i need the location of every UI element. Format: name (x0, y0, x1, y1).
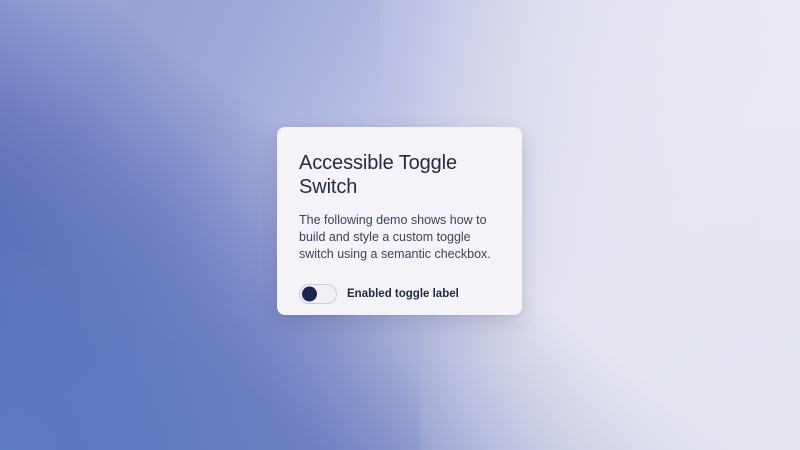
toggle-switch-enabled[interactable] (299, 284, 337, 304)
toggle-list: Enabled toggle label Disabled toggle lab… (299, 284, 500, 315)
card-title: Accessible Toggle Switch (299, 151, 500, 199)
toggle-label-enabled[interactable]: Enabled toggle label (347, 287, 459, 301)
toggle-demo-card: Accessible Toggle Switch The following d… (277, 127, 522, 315)
toggle-row-enabled[interactable]: Enabled toggle label (299, 284, 500, 304)
card-description: The following demo shows how to build an… (299, 212, 500, 263)
toggle-thumb-icon (302, 287, 317, 302)
page-background: Accessible Toggle Switch The following d… (0, 0, 800, 450)
